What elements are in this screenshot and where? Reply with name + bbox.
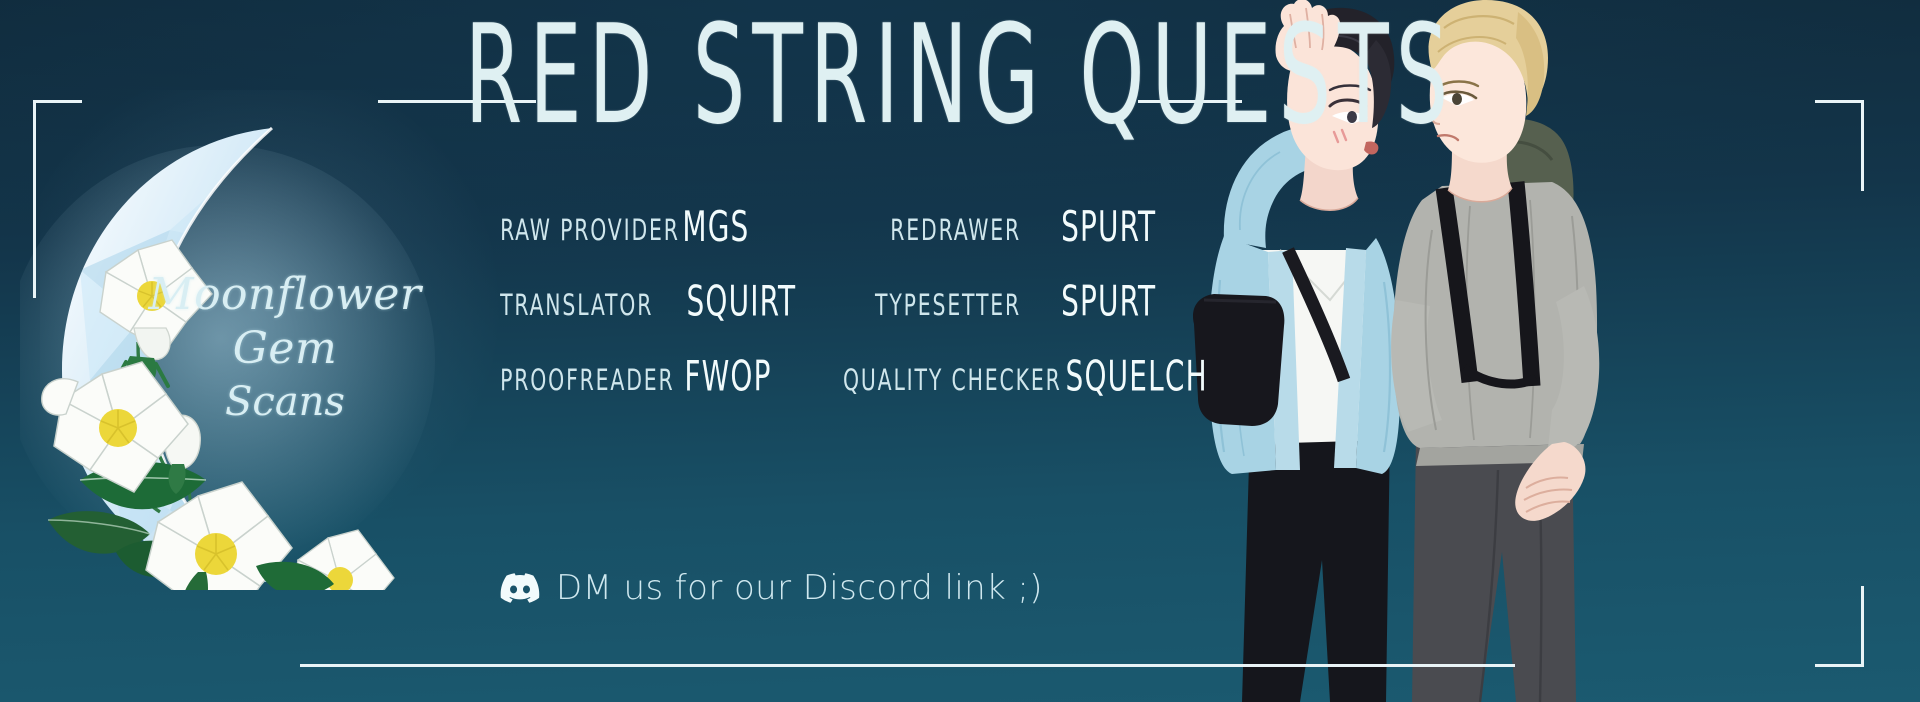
credits-banner: Moonflower Gem Scans RED STRING QUESTS R… [0,0,1920,702]
credit-label: REDRAWER [843,213,1021,247]
credits-row: RAW PROVIDER MGS REDRAWER SPURT [486,205,1166,280]
credits-row: PROOFREADER FWOP QUALITY CHECKER SQUELCH [486,355,1166,430]
credit-value: FWOP [684,352,771,401]
credit-value: SPURT [1061,202,1156,251]
discord-invite-text: DM us for our Discord link ;) [556,568,1043,608]
discord-invite[interactable]: DM us for our Discord link ;) [500,568,1043,608]
credit-value: SQUELCH [1066,352,1208,401]
credit-label: TYPESETTER [843,288,1021,322]
credits-list: RAW PROVIDER MGS REDRAWER SPURT TRANSLAT… [486,205,1166,430]
credit-label: TRANSLATOR [500,288,648,322]
credit-entry-quality-checker: QUALITY CHECKER SQUELCH [826,355,1166,398]
corner-bracket-top-left [33,100,82,298]
corner-bracket-bottom-right [1815,586,1864,667]
credit-value: SPURT [1061,277,1156,326]
credit-value: SQUIRT [686,277,796,326]
corner-bracket-top-right [1815,100,1864,191]
discord-icon [500,573,540,603]
bottom-rule [300,664,1515,667]
credit-label: RAW PROVIDER [500,213,648,247]
credit-entry-typesetter: TYPESETTER SPURT [826,280,1166,323]
credit-entry-raw-provider: RAW PROVIDER MGS [486,205,826,248]
credit-entry-translator: TRANSLATOR SQUIRT [486,280,826,323]
credit-entry-proofreader: PROOFREADER FWOP [486,355,826,398]
credit-value: MGS [682,202,749,251]
page-title: RED STRING QUESTS [211,6,1709,143]
credit-entry-redrawer: REDRAWER SPURT [826,205,1166,248]
credit-label: PROOFREADER [500,363,648,397]
credits-row: TRANSLATOR SQUIRT TYPESETTER SPURT [486,280,1166,355]
moonflower-gem-logo [20,120,500,590]
credit-label: QUALITY CHECKER [843,363,1021,397]
